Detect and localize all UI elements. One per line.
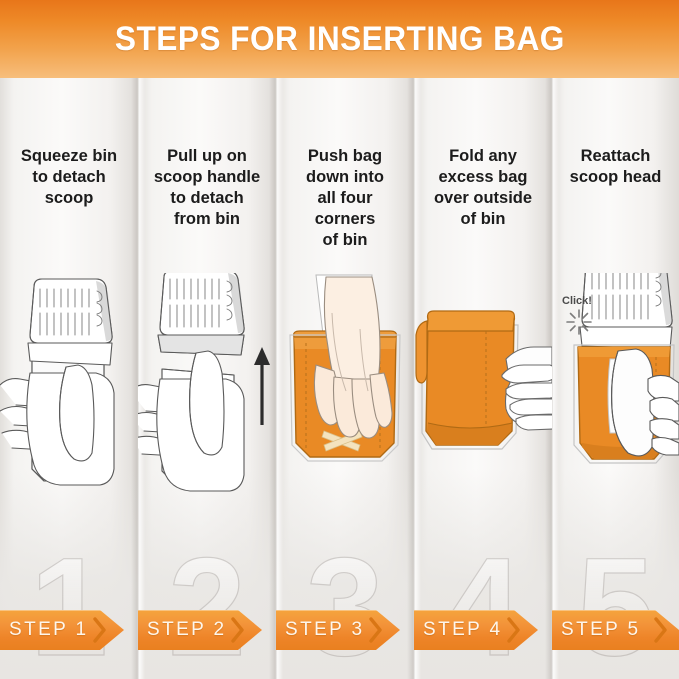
chevron-right-icon <box>231 617 244 643</box>
chevron-right-icon <box>507 617 520 643</box>
step-panel-4[interactable]: Fold any excess bag over outside of bin … <box>414 78 552 679</box>
page-title: STEPS FOR INSERTING BAG <box>115 20 565 59</box>
spark-burst-icon <box>566 309 592 335</box>
step-illustration-1 <box>0 273 138 503</box>
chevron-right-icon <box>654 617 667 643</box>
step-caption-2: Pull up on scoop handle to detach from b… <box>142 146 272 230</box>
step-panel-1[interactable]: Squeeze bin to detach scoop 1 <box>0 78 138 679</box>
chevron-right-icon <box>93 617 106 643</box>
step-panel-5[interactable]: Reattach scoop head 5 Click! <box>552 78 679 679</box>
step-badge-5[interactable]: STEP 5 <box>552 610 679 650</box>
step-badge-label-3: STEP 3 <box>276 619 365 641</box>
step-caption-5: Reattach scoop head <box>556 146 675 188</box>
step-badge-4[interactable]: STEP 4 <box>414 610 538 650</box>
step-badge-2[interactable]: STEP 2 <box>138 610 262 650</box>
step-badge-label-4: STEP 4 <box>414 619 503 641</box>
step-panel-2[interactable]: Pull up on scoop handle to detach from b… <box>138 78 276 679</box>
step-badge-3[interactable]: STEP 3 <box>276 610 400 650</box>
step-caption-4: Fold any excess bag over outside of bin <box>418 146 548 230</box>
step-badge-label-5: STEP 5 <box>552 619 641 641</box>
header-banner: STEPS FOR INSERTING BAG <box>0 0 679 78</box>
step-badge-bar: STEP 1 STEP 2 STEP 3 STEP 4 STEP 5 <box>0 610 679 650</box>
step-caption-1: Squeeze bin to detach scoop <box>4 146 134 209</box>
step-illustration-4 <box>414 273 552 503</box>
chevron-right-icon <box>369 617 382 643</box>
step-panel-3[interactable]: Push bag down into all four corners of b… <box>276 78 414 679</box>
step-illustration-2 <box>138 273 276 503</box>
up-arrow-icon <box>254 347 270 425</box>
step-caption-3: Push bag down into all four corners of b… <box>280 146 410 251</box>
step-badge-label-2: STEP 2 <box>138 619 227 641</box>
step-badge-label-1: STEP 1 <box>0 619 89 641</box>
step-illustration-5: Click! <box>552 273 679 503</box>
step-badge-1[interactable]: STEP 1 <box>0 610 124 650</box>
steps-container: Squeeze bin to detach scoop 1 <box>0 78 679 679</box>
step-illustration-3 <box>276 273 414 503</box>
click-annotation-label: Click! <box>562 295 592 307</box>
instruction-poster: STEPS FOR INSERTING BAG Squeeze bin to d… <box>0 0 679 679</box>
